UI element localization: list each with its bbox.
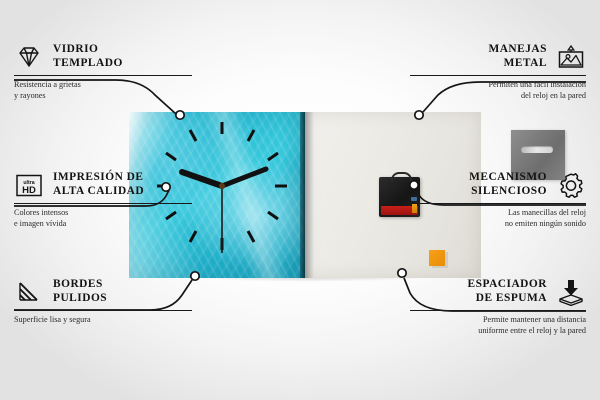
panel-seam-shadow [305, 112, 314, 278]
feature-espaciador-de-espuma: ESPACIADOR DE ESPUMA Permite mantener un… [410, 277, 586, 336]
feature-header: ESPACIADOR DE ESPUMA [410, 277, 586, 307]
feature-bordes-pulidos: BORDES PULIDOS Superficie lisa y segura [14, 277, 192, 326]
feature-manejas-metal: MANEJAS METAL Permiten una fácil instala… [410, 42, 586, 101]
feature-title: BORDES PULIDOS [53, 278, 107, 305]
gear-icon [556, 170, 586, 200]
infographic-canvas: VIDRIO TEMPLADO Resistencia a grietas y … [0, 0, 600, 400]
feature-title: ESPACIADOR DE ESPUMA [468, 278, 547, 305]
feature-divider [14, 75, 192, 76]
feature-description: Colores intensos e imagen vívida [14, 208, 192, 229]
hanger-slot [521, 146, 553, 153]
svg-text:HD: HD [22, 185, 36, 196]
feature-vidrio-templado: VIDRIO TEMPLADO Resistencia a grietas y … [14, 42, 192, 101]
mechanism-loop [391, 172, 412, 182]
feature-description: Las manecillas del reloj no emiten ningú… [410, 208, 586, 229]
feature-header: MANEJAS METAL [410, 42, 586, 72]
feature-divider [14, 203, 192, 204]
feature-title: MANEJAS METAL [488, 43, 547, 70]
feature-description: Resistencia a grietas y rayones [14, 80, 192, 101]
feature-mecanismo-silencioso: MECANISMO SILENCIOSO Las manecillas del … [410, 170, 586, 229]
polished-edge-icon [14, 277, 44, 307]
clock-center-cap [219, 183, 225, 189]
diamond-icon [14, 42, 44, 72]
feature-description: Permite mantener una distancia uniforme … [410, 315, 586, 336]
feature-description: Superficie lisa y segura [14, 315, 192, 325]
feature-divider [410, 203, 586, 204]
feature-header: VIDRIO TEMPLADO [14, 42, 192, 72]
feature-title: IMPRESIÓN DE ALTA CALIDAD [53, 171, 144, 198]
feature-header: ultra HD IMPRESIÓN DE ALTA CALIDAD [14, 170, 192, 200]
ultra-hd-icon: ultra HD [14, 170, 44, 200]
foam-spacer [429, 250, 445, 266]
feature-header: MECANISMO SILENCIOSO [410, 170, 586, 200]
feature-description: Permiten una fácil instalación del reloj… [410, 80, 586, 101]
feature-divider [14, 310, 192, 311]
foam-spacer-icon [556, 277, 586, 307]
feature-divider [410, 310, 586, 311]
feature-impresion-alta-calidad: ultra HD IMPRESIÓN DE ALTA CALIDAD Color… [14, 170, 192, 229]
feature-title: VIDRIO TEMPLADO [53, 43, 123, 70]
feature-divider [410, 75, 586, 76]
picture-hanger-icon [556, 42, 586, 72]
feature-title: MECANISMO SILENCIOSO [469, 171, 547, 198]
feature-header: BORDES PULIDOS [14, 277, 192, 307]
clock-minute-hand [222, 169, 266, 186]
